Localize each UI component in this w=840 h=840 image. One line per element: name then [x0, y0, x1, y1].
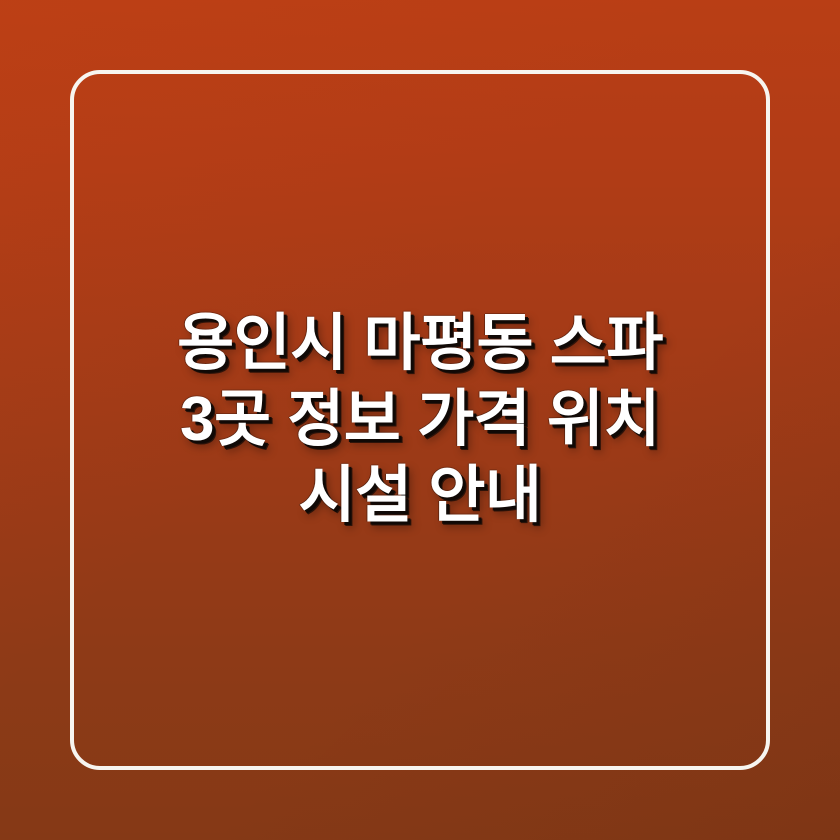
page-title: 용인시 마평동 스파 3곳 정보 가격 위치 시설 안내 [0, 0, 840, 840]
title-line-3: 시설 안내 [299, 458, 542, 534]
title-line-1: 용인시 마평동 스파 [177, 306, 663, 382]
thumbnail-card: 용인시 마평동 스파 3곳 정보 가격 위치 시설 안내 [0, 0, 840, 840]
title-line-2: 3곳 정보 가격 위치 [180, 382, 660, 458]
